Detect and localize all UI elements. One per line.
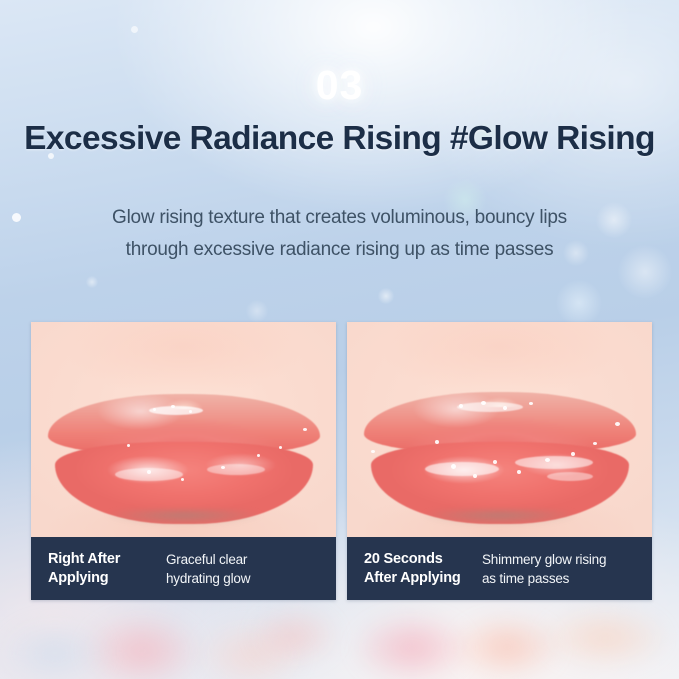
gloss-highlight	[547, 472, 593, 481]
lower-lip	[371, 442, 629, 524]
lips-photo	[347, 322, 652, 537]
bottom-blur-blob	[452, 614, 562, 679]
comparison-panels: Right After Applying Graceful clear hydr…	[31, 322, 652, 600]
gloss-sparkle	[517, 470, 521, 474]
caption-label-line-2: Applying	[48, 569, 166, 588]
bottom-blur-blob	[540, 606, 670, 670]
gloss-sparkle	[257, 454, 260, 457]
gloss-sparkle	[529, 402, 533, 405]
bokeh-dot	[378, 288, 394, 304]
bottom-blur-blob	[196, 620, 306, 679]
panel-caption: 20 Seconds After Applying Shimmery glow …	[347, 537, 652, 600]
gloss-sparkle	[189, 410, 192, 413]
gloss-sparkle	[435, 440, 439, 444]
gloss-sparkle	[127, 444, 130, 447]
lips-photo	[31, 322, 336, 537]
bokeh-dot	[86, 276, 98, 288]
gloss-sparkle	[593, 442, 597, 445]
gloss-highlight	[207, 464, 265, 475]
caption-desc-line-1: Shimmery glow rising	[482, 550, 606, 569]
gloss-sparkle	[153, 408, 156, 411]
subtitle-line-1: Glow rising texture that creates volumin…	[0, 202, 679, 234]
subtitle-line-2: through excessive radiance rising up as …	[0, 234, 679, 266]
gloss-highlight	[425, 462, 499, 476]
gloss-sparkle	[171, 405, 175, 408]
gloss-highlight	[515, 456, 593, 469]
caption-label-line-2: After Applying	[364, 569, 482, 588]
section-number: 03	[0, 62, 679, 109]
gloss-sparkle	[451, 464, 456, 469]
caption-description: Graceful clear hydrating glow	[166, 550, 250, 588]
caption-label-line-1: 20 Seconds	[364, 550, 482, 569]
caption-label: 20 Seconds After Applying	[364, 550, 482, 588]
gloss-highlight	[149, 406, 203, 415]
bokeh-dot	[131, 26, 138, 33]
bokeh-dot	[556, 280, 602, 326]
caption-label-line-1: Right After	[48, 550, 166, 569]
gloss-sparkle	[459, 404, 463, 408]
gloss-sparkle	[181, 478, 184, 481]
gloss-sparkle	[545, 458, 550, 462]
gloss-sparkle	[571, 452, 575, 456]
promo-page: 03 Excessive Radiance Rising #Glow Risin…	[0, 0, 679, 679]
bottom-blur-blob	[250, 606, 340, 666]
caption-desc-line-1: Graceful clear	[166, 550, 250, 569]
bottom-blur-blob	[82, 612, 202, 679]
panel-caption: Right After Applying Graceful clear hydr…	[31, 537, 336, 600]
gloss-sparkle	[303, 428, 307, 431]
bokeh-dot	[246, 300, 268, 322]
gloss-sparkle	[503, 406, 507, 410]
gloss-sparkle	[371, 450, 375, 453]
caption-desc-line-2: hydrating glow	[166, 569, 250, 588]
gloss-sparkle	[279, 446, 282, 449]
page-title: Excessive Radiance Rising #Glow Rising	[0, 120, 679, 158]
bottom-blur-blob	[352, 612, 472, 679]
gloss-sparkle	[221, 466, 225, 469]
caption-label: Right After Applying	[48, 550, 166, 588]
gloss-sparkle	[481, 401, 486, 405]
gloss-sparkle	[147, 470, 151, 474]
comparison-panel-right-after-applying: Right After Applying Graceful clear hydr…	[31, 322, 336, 600]
gloss-highlight	[457, 402, 523, 412]
comparison-panel-20-seconds-after-applying: 20 Seconds After Applying Shimmery glow …	[347, 322, 652, 600]
lower-lip	[55, 442, 313, 524]
gloss-sparkle	[473, 474, 477, 478]
caption-desc-line-2: as time passes	[482, 569, 606, 588]
bottom-blur-blob	[0, 618, 110, 679]
gloss-sparkle	[493, 460, 497, 464]
gloss-sparkle	[615, 422, 620, 426]
page-subtitle: Glow rising texture that creates volumin…	[0, 202, 679, 266]
caption-description: Shimmery glow rising as time passes	[482, 550, 606, 588]
